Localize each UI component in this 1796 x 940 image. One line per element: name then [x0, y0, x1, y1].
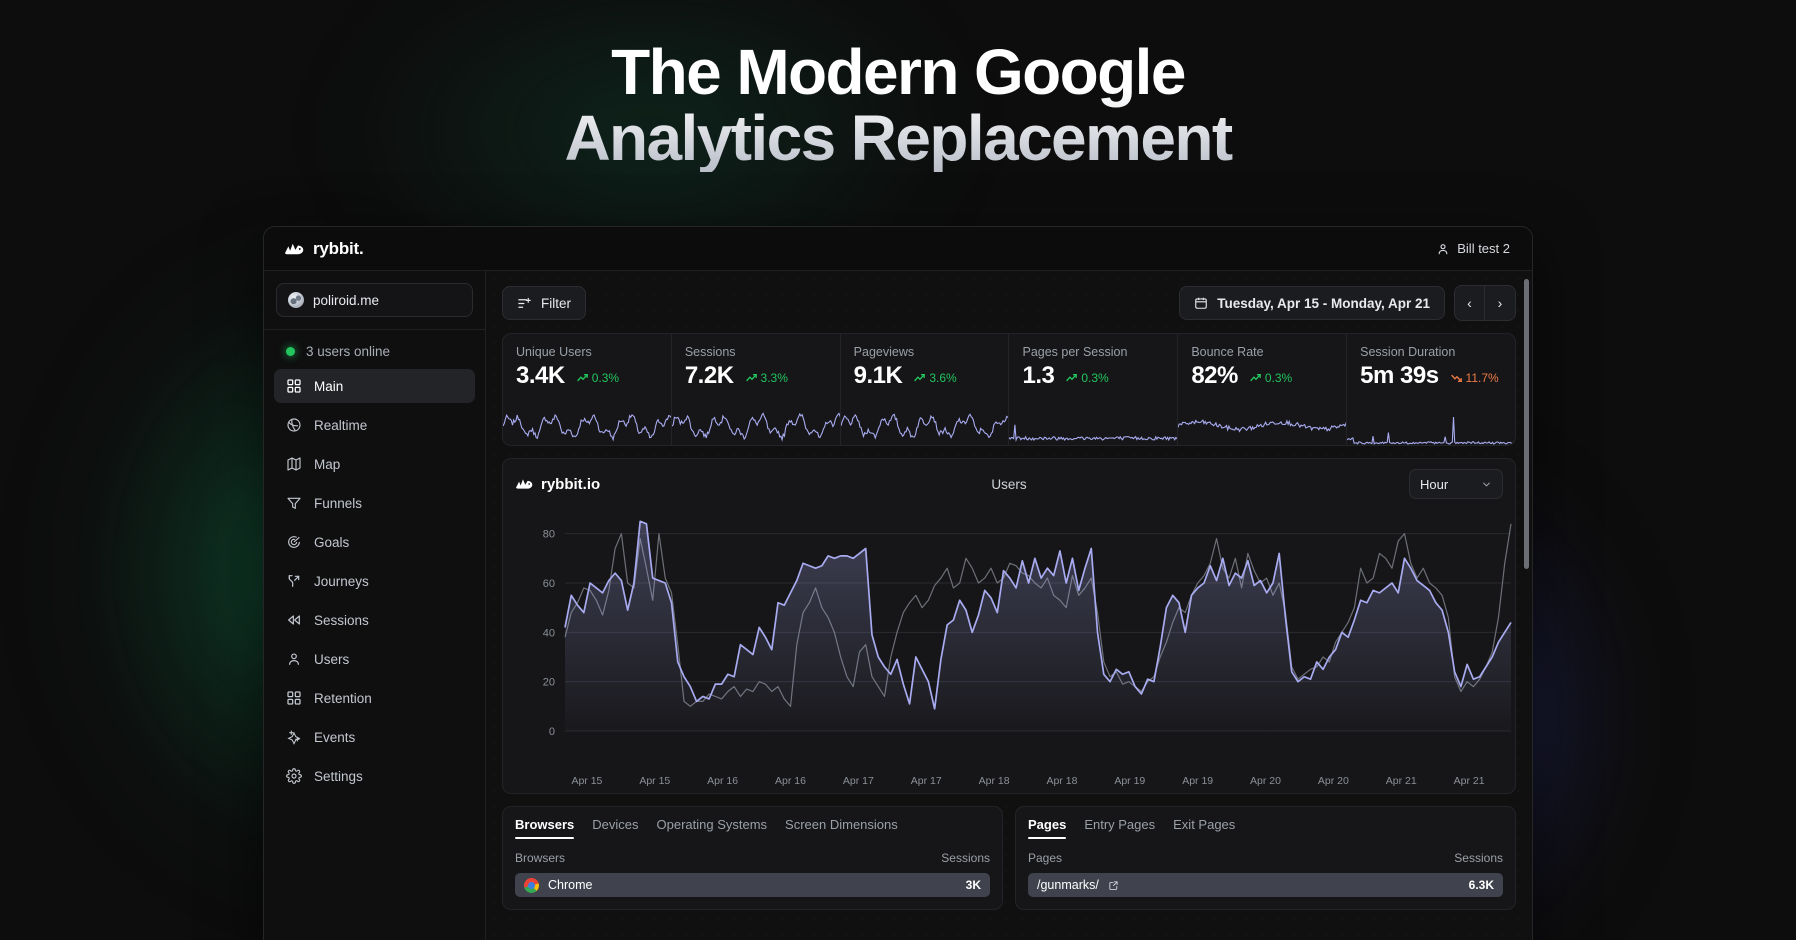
chart-title: Users	[503, 477, 1515, 492]
sidebar-item-sessions[interactable]: Sessions	[274, 603, 475, 637]
kpi-delta: 0.3%	[577, 371, 619, 385]
trend-up-icon	[1250, 373, 1262, 383]
online-status-label: 3 users online	[306, 344, 390, 359]
tab-devices[interactable]: Devices	[592, 817, 638, 839]
filter-icon	[517, 296, 532, 311]
tab-operating-systems[interactable]: Operating Systems	[657, 817, 768, 839]
bottom-panels: Browsers Devices Operating Systems Scree…	[502, 806, 1516, 910]
next-period-button[interactable]: ›	[1485, 286, 1515, 320]
kpi-delta-label: 0.3%	[592, 371, 619, 385]
kpi-sparkline	[672, 401, 841, 445]
sidebar: poliroid.me 3 users online Main	[264, 271, 486, 940]
x-tick-label: Apr 16	[757, 775, 825, 787]
sidebar-item-label: Main	[314, 379, 343, 394]
sidebar-nav: Main Realtime Map	[264, 367, 485, 793]
kpi-card[interactable]: Session Duration 5m 39s 11.7%	[1347, 334, 1515, 445]
kpi-delta-label: 11.7%	[1466, 371, 1499, 385]
branch-icon	[286, 573, 302, 589]
x-tick-label: Apr 19	[1096, 775, 1164, 787]
kpi-delta: 0.3%	[1066, 371, 1108, 385]
table-row[interactable]: /gunmarks/ 6.3K	[1028, 873, 1503, 897]
sidebar-item-label: Events	[314, 730, 355, 745]
sidebar-item-label: Sessions	[314, 613, 369, 628]
kpi-delta: 11.7%	[1451, 371, 1499, 385]
x-tick-label: Apr 21	[1367, 775, 1435, 787]
pages-tabs: Pages Entry Pages Exit Pages	[1028, 817, 1503, 840]
chevron-down-icon	[1481, 479, 1492, 490]
granularity-value: Hour	[1420, 477, 1448, 492]
x-tick-label: Apr 21	[1435, 775, 1503, 787]
chart-brand: rybbit.io	[515, 476, 600, 493]
sidebar-item-label: Goals	[314, 535, 349, 550]
sidebar-item-map[interactable]: Map	[274, 447, 475, 481]
row-label: /gunmarks/	[1037, 878, 1099, 892]
kpi-sparkline	[1178, 401, 1347, 445]
sidebar-divider	[264, 329, 485, 330]
grid-icon	[286, 690, 302, 706]
globe-icon	[288, 292, 304, 308]
gear-icon	[286, 768, 302, 784]
kpi-card[interactable]: Bounce Rate 82% 0.3%	[1178, 334, 1347, 445]
toolbar: Filter Tuesday, Apr 15 - Monday, Apr 21 …	[502, 285, 1516, 321]
kpi-card[interactable]: Pages per Session 1.3 0.3%	[1009, 334, 1178, 445]
svg-text:20: 20	[543, 677, 555, 689]
rybbit-logo-icon	[515, 477, 534, 491]
sidebar-item-journeys[interactable]: Journeys	[274, 564, 475, 598]
kpi-sparkline	[1347, 401, 1515, 445]
main-chart-card: rybbit.io Users Hour 020406080 Apr 15Apr…	[502, 458, 1516, 794]
column-header-right: Sessions	[941, 851, 990, 865]
x-tick-label: Apr 20	[1299, 775, 1367, 787]
chart-brand-label: rybbit.io	[541, 476, 600, 493]
chrome-icon	[524, 878, 539, 893]
date-range-picker[interactable]: Tuesday, Apr 15 - Monday, Apr 21	[1179, 286, 1445, 320]
globe-orbit-icon	[286, 417, 302, 433]
column-header-right: Sessions	[1454, 851, 1503, 865]
app-body: poliroid.me 3 users online Main	[264, 271, 1532, 940]
date-controls: Tuesday, Apr 15 - Monday, Apr 21 ‹ ›	[1179, 285, 1516, 321]
kpi-sparkline	[1009, 401, 1178, 445]
column-header-left: Browsers	[515, 851, 565, 865]
sidebar-item-label: Journeys	[314, 574, 369, 589]
brand[interactable]: rybbit.	[284, 239, 364, 259]
filter-label: Filter	[541, 296, 571, 311]
kpi-label: Pages per Session	[1022, 345, 1164, 359]
kpi-card[interactable]: Pageviews 9.1K 3.6%	[841, 334, 1010, 445]
granularity-select[interactable]: Hour	[1409, 469, 1503, 499]
kpi-sparkline	[503, 401, 672, 445]
x-tick-label: Apr 17	[892, 775, 960, 787]
kpi-value: 3.4K	[516, 362, 565, 390]
page-title: The Modern Google Analytics Replacement	[0, 40, 1796, 172]
kpi-label: Pageviews	[854, 345, 996, 359]
kpi-card[interactable]: Sessions 7.2K 3.3%	[672, 334, 841, 445]
app-scrollbar[interactable]	[1524, 279, 1529, 569]
site-name: poliroid.me	[313, 293, 379, 308]
site-selector[interactable]: poliroid.me	[276, 283, 473, 317]
kpi-delta: 3.3%	[746, 371, 788, 385]
svg-text:40: 40	[543, 627, 555, 639]
grid-icon	[286, 378, 302, 394]
app-header: rybbit. Bill test 2	[264, 227, 1532, 271]
sidebar-item-funnels[interactable]: Funnels	[274, 486, 475, 520]
sidebar-item-label: Settings	[314, 769, 363, 784]
kpi-delta: 0.3%	[1250, 371, 1292, 385]
row-value: 6.3K	[1469, 878, 1494, 892]
date-nav-arrows: ‹ ›	[1454, 285, 1516, 321]
sidebar-item-events[interactable]: Events	[274, 720, 475, 754]
kpi-delta-label: 3.3%	[761, 371, 788, 385]
chart-header: rybbit.io Users Hour	[515, 469, 1503, 499]
person-icon	[1436, 242, 1450, 256]
svg-text:80: 80	[543, 529, 555, 541]
users-line-chart[interactable]: 020406080	[515, 503, 1515, 759]
prev-period-button[interactable]: ‹	[1455, 286, 1485, 320]
date-range-label: Tuesday, Apr 15 - Monday, Apr 21	[1217, 296, 1430, 311]
browsers-tabs: Browsers Devices Operating Systems Scree…	[515, 817, 990, 840]
trend-up-icon	[746, 373, 758, 383]
tab-browsers[interactable]: Browsers	[515, 817, 574, 839]
row-value: 3K	[966, 878, 981, 892]
kpi-value: 9.1K	[854, 362, 903, 390]
x-tick-label: Apr 15	[621, 775, 689, 787]
sidebar-item-realtime[interactable]: Realtime	[274, 408, 475, 442]
filter-button[interactable]: Filter	[502, 286, 586, 320]
x-tick-label: Apr 18	[1028, 775, 1096, 787]
x-tick-label: Apr 18	[960, 775, 1028, 787]
brand-name: rybbit.	[313, 239, 364, 259]
chart-x-axis-labels: Apr 15Apr 15Apr 16Apr 16Apr 17Apr 17Apr …	[553, 775, 1503, 787]
kpi-label: Bounce Rate	[1191, 345, 1333, 359]
kpi-delta-label: 3.6%	[929, 371, 956, 385]
row-label: Chrome	[548, 878, 592, 892]
kpi-value: 82%	[1191, 362, 1238, 390]
x-tick-label: Apr 20	[1232, 775, 1300, 787]
kpi-value: 1.3	[1022, 362, 1054, 390]
kpi-row: Unique Users 3.4K 0.3% Sessions 7.2K	[502, 333, 1516, 446]
user-name: Bill test 2	[1457, 241, 1510, 256]
sidebar-item-main[interactable]: Main	[274, 369, 475, 403]
kpi-label: Unique Users	[516, 345, 658, 359]
kpi-label: Session Duration	[1360, 345, 1502, 359]
rybbit-logo-icon	[284, 241, 305, 257]
sidebar-item-settings[interactable]: Settings	[274, 759, 475, 793]
x-tick-label: Apr 17	[824, 775, 892, 787]
online-dot-icon	[286, 347, 295, 356]
pages-panel: Pages Entry Pages Exit Pages Pages Sessi…	[1015, 806, 1516, 910]
browsers-column-headers: Browsers Sessions	[515, 851, 990, 865]
tab-pages[interactable]: Pages	[1028, 817, 1066, 839]
kpi-value: 7.2K	[685, 362, 734, 390]
user-menu[interactable]: Bill test 2	[1436, 241, 1510, 256]
hero-line-2: Analytics Replacement	[0, 106, 1796, 172]
calendar-icon	[1194, 296, 1208, 310]
x-tick-label: Apr 19	[1164, 775, 1232, 787]
sidebar-item-users[interactable]: Users	[274, 642, 475, 676]
app-window: rybbit. Bill test 2 poliroid.me 3 users …	[263, 226, 1533, 940]
external-link-icon[interactable]	[1108, 880, 1119, 891]
kpi-card[interactable]: Unique Users 3.4K 0.3%	[503, 334, 672, 445]
x-tick-label: Apr 16	[689, 775, 757, 787]
target-icon	[286, 534, 302, 550]
hero-section: The Modern Google Analytics Replacement	[0, 40, 1796, 172]
kpi-delta-label: 0.3%	[1265, 371, 1292, 385]
tab-exit-pages[interactable]: Exit Pages	[1173, 817, 1235, 839]
sidebar-item-label: Funnels	[314, 496, 362, 511]
trend-up-icon	[914, 373, 926, 383]
kpi-sparkline	[841, 401, 1010, 445]
sidebar-item-label: Retention	[314, 691, 372, 706]
map-icon	[286, 456, 302, 472]
column-header-left: Pages	[1028, 851, 1062, 865]
tab-screen-dimensions[interactable]: Screen Dimensions	[785, 817, 898, 839]
person-icon	[286, 651, 302, 667]
sparkle-icon	[286, 729, 302, 745]
sidebar-item-label: Realtime	[314, 418, 367, 433]
trend-up-icon	[577, 373, 589, 383]
svg-text:0: 0	[549, 726, 555, 738]
sidebar-item-label: Users	[314, 652, 349, 667]
rewind-icon	[286, 612, 302, 628]
table-row[interactable]: Chrome 3K	[515, 873, 990, 897]
main-content: Filter Tuesday, Apr 15 - Monday, Apr 21 …	[486, 271, 1532, 940]
kpi-label: Sessions	[685, 345, 827, 359]
trend-up-icon	[1066, 373, 1078, 383]
hero-line-1: The Modern Google	[611, 36, 1185, 108]
sidebar-item-retention[interactable]: Retention	[274, 681, 475, 715]
kpi-value: 5m 39s	[1360, 362, 1438, 390]
kpi-delta-label: 0.3%	[1081, 371, 1108, 385]
tab-entry-pages[interactable]: Entry Pages	[1084, 817, 1155, 839]
sidebar-item-label: Map	[314, 457, 340, 472]
online-status: 3 users online	[264, 338, 485, 367]
pages-column-headers: Pages Sessions	[1028, 851, 1503, 865]
sidebar-item-goals[interactable]: Goals	[274, 525, 475, 559]
trend-down-icon	[1451, 373, 1463, 383]
funnel-icon	[286, 495, 302, 511]
browsers-panel: Browsers Devices Operating Systems Scree…	[502, 806, 1003, 910]
kpi-delta: 3.6%	[914, 371, 956, 385]
x-tick-label: Apr 15	[553, 775, 621, 787]
svg-text:60: 60	[543, 578, 555, 590]
